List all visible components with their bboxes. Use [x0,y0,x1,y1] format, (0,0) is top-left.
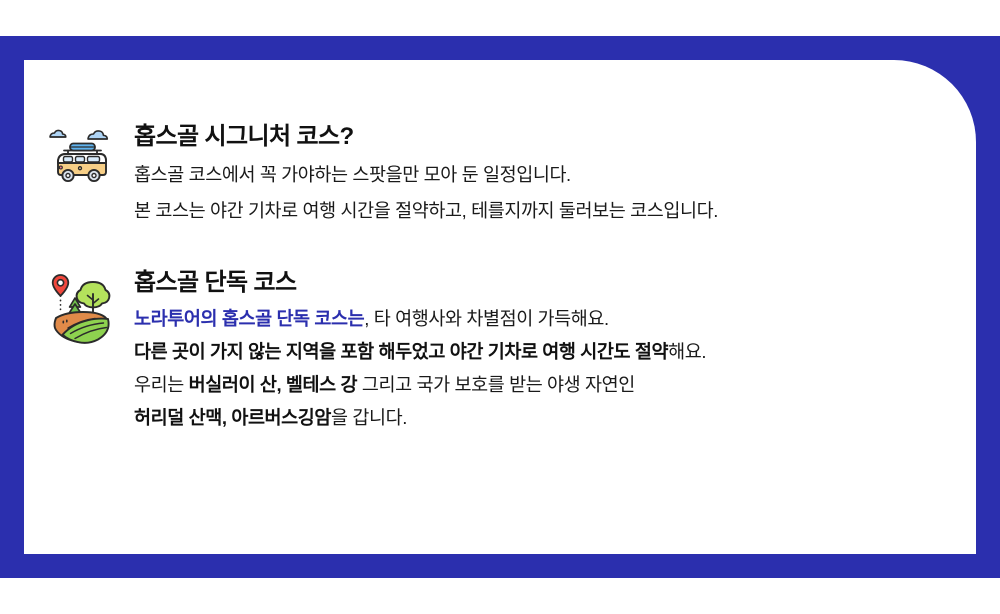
section-1-line-2-text: 본 코스는 야간 기차로 여행 시간을 절약하고, 테를지까지 둘러보는 코스입… [134,200,718,221]
section-exclusive-course: 홉스골 단독 코스 노라투어의 홉스골 단독 코스는, 타 여행사와 차별점이 … [44,268,706,435]
landscape-pin-icon [44,268,118,344]
section-2-para-line-2-bold: 허리덜 산맥, 아르버스깅암 [134,407,331,428]
section-2-line-2: 다른 곳이 가지 않는 지역을 포함 해두었고 야간 기차로 여행 시간도 절약… [134,336,706,369]
section-1-line-2: 본 코스는 야간 기차로 여행 시간을 절약하고, 테를지까지 둘러보는 코스입… [134,193,718,229]
section-signature-course: 홉스골 시그니처 코스? 홉스골 코스에서 꼭 가야하는 스팟을만 모아 둔 일… [44,122,718,228]
section-2-para-line-1-pre: 우리는 [134,374,189,395]
section-2-para-line-1: 우리는 버실러이 산, 벨테스 강 그리고 국가 보호를 받는 야생 자연인 [134,369,706,402]
section-2-para-line-2: 허리덜 산맥, 아르버스깅암을 갑니다. [134,402,706,435]
section-1-text: 홉스골 시그니처 코스? 홉스골 코스에서 꼭 가야하는 스팟을만 모아 둔 일… [134,122,718,228]
section-2-para-line-1-bold: 버실러이 산, 벨테스 강 [189,374,358,395]
section-2-line-1-highlight: 노라투어의 홉스골 단독 코스는 [134,308,364,329]
section-1-line-1-text: 홉스골 코스에서 꼭 가야하는 스팟을만 모아 둔 일정입니다. [134,164,571,185]
section-1-line-1: 홉스골 코스에서 꼭 가야하는 스팟을만 모아 둔 일정입니다. [134,157,718,193]
section-2-line-1: 노라투어의 홉스골 단독 코스는, 타 여행사와 차별점이 가득해요. [134,303,706,336]
section-1-title: 홉스골 시그니처 코스? [134,122,718,151]
camper-van-icon [44,122,118,188]
section-2-text: 홉스골 단독 코스 노라투어의 홉스골 단독 코스는, 타 여행사와 차별점이 … [134,268,706,435]
section-2-line-2-rest: 해요. [668,341,706,362]
section-2-line-2-bold: 다른 곳이 가지 않는 지역을 포함 해두었고 야간 기차로 여행 시간도 절약 [134,341,668,362]
section-2-line-1-rest: , 타 여행사와 차별점이 가득해요. [364,308,609,329]
section-2-para-line-1-post: 그리고 국가 보호를 받는 야생 자연인 [357,374,635,395]
section-2-title: 홉스골 단독 코스 [134,268,706,297]
section-2-para-line-2-post: 을 갑니다. [331,407,407,428]
